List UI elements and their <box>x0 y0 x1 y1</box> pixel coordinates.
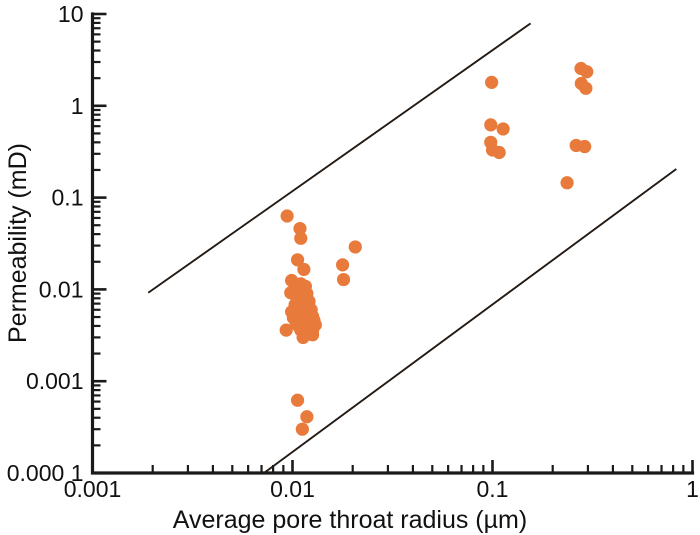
y-tick-label: 0.001 <box>26 368 84 394</box>
data-point <box>497 122 510 135</box>
tick-marks-group <box>93 14 693 473</box>
data-point <box>560 176 573 189</box>
data-point <box>336 258 349 271</box>
data-point <box>484 118 497 131</box>
x-tick-labels-group: 0.0010.010.11 <box>64 476 699 502</box>
scatter-plot-canvas: 0.0010.010.11 0.000 10.0010.010.1110 Ave… <box>0 0 700 535</box>
x-axis-title: Average pore throat radius (µm) <box>173 506 527 534</box>
lower-bound-line <box>264 169 676 473</box>
data-point <box>578 140 591 153</box>
data-point <box>579 82 592 95</box>
data-points-group <box>280 62 594 436</box>
data-point <box>281 209 294 222</box>
x-tick-label: 0.1 <box>477 476 509 502</box>
permeability-vs-pore-throat-radius-figure: 0.0010.010.11 0.000 10.0010.010.1110 Ave… <box>0 0 700 535</box>
data-point <box>300 410 313 423</box>
y-tick-label: 0.01 <box>39 276 84 302</box>
data-point <box>485 76 498 89</box>
data-point <box>294 232 307 245</box>
axis-spines <box>93 14 693 473</box>
y-tick-label: 0.1 <box>52 185 84 211</box>
data-point <box>297 263 310 276</box>
data-point <box>349 240 362 253</box>
x-tick-label: 0.01 <box>270 476 315 502</box>
y-axis-title: Permeability (mD) <box>4 143 32 343</box>
reference-lines-group <box>148 23 676 473</box>
data-point <box>296 423 309 436</box>
upper-bound-line <box>148 23 530 292</box>
data-point <box>291 394 304 407</box>
data-point <box>337 273 350 286</box>
x-tick-label: 1 <box>686 476 699 502</box>
data-point <box>306 328 319 341</box>
y-tick-label: 1 <box>71 93 84 119</box>
axis-group <box>93 14 693 473</box>
data-point <box>580 65 593 78</box>
y-tick-label: 0.000 1 <box>7 460 84 486</box>
data-point <box>493 146 506 159</box>
data-point <box>280 324 293 337</box>
y-tick-label: 10 <box>58 1 84 27</box>
